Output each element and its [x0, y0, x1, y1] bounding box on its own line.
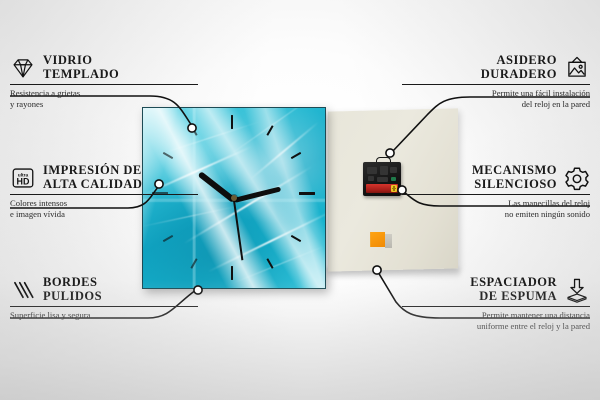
battery [366, 184, 398, 193]
foam-spacer [370, 232, 385, 247]
feature-header: ASIDERO DURADERO [402, 54, 590, 81]
feature-header: VIDRIO TEMPLADO [10, 54, 198, 81]
picture-frame-icon [564, 55, 590, 81]
feature-vidrio-templado[interactable]: VIDRIO TEMPLADO Resistencia a grietas y … [10, 54, 198, 110]
feature-subtitle: Colores intensos e imagen vívida [10, 198, 198, 220]
feature-title: MECANISMO SILENCIOSO [472, 164, 557, 191]
feature-title: ASIDERO DURADERO [481, 54, 557, 81]
foam-spacer-icon [564, 277, 590, 303]
feature-bordes-pulidos[interactable]: BORDES PULIDOS Superficie lisa y segura [10, 276, 198, 321]
diamond-icon [10, 55, 36, 81]
feature-espaciador-de-espuma[interactable]: ESPACIADOR DE ESPUMA Permite mantener un… [402, 276, 590, 332]
feature-divider [10, 194, 198, 195]
battery-plus-terminal [391, 185, 397, 192]
ultra-hd-icon-large-text: HD [17, 176, 30, 186]
feature-title: IMPRESIÓN DE ALTA CALIDAD [43, 164, 142, 191]
feature-subtitle: Permite mantener una distancia uniforme … [402, 310, 590, 332]
feature-divider [10, 306, 198, 307]
feature-divider [402, 84, 590, 85]
foam-spacer-shadow [385, 234, 392, 248]
gear-icon [564, 165, 590, 191]
feature-divider [402, 306, 590, 307]
feature-divider [402, 194, 590, 195]
feature-header: BORDES PULIDOS [10, 276, 198, 303]
feature-title: VIDRIO TEMPLADO [43, 54, 119, 81]
feature-subtitle: Superficie lisa y segura [10, 310, 198, 321]
feature-impresion-alta-calidad[interactable]: ultra HD IMPRESIÓN DE ALTA CALIDAD Color… [10, 164, 198, 220]
feature-mecanismo-silencioso[interactable]: MECANISMO SILENCIOSO Las manecillas del … [402, 164, 590, 220]
ultra-hd-icon: ultra HD [10, 165, 36, 191]
feature-subtitle: Las manecillas del reloj no emiten ningú… [402, 198, 590, 220]
feature-header: ESPACIADOR DE ESPUMA [402, 276, 590, 303]
quartz-movement [363, 162, 401, 196]
feature-subtitle: Resistencia a grietas y rayones [10, 88, 198, 110]
clock-tick [231, 266, 233, 280]
feature-subtitle: Permite una fácil instalación del reloj … [402, 88, 590, 110]
hand-center-cap [231, 195, 237, 201]
feature-header: MECANISMO SILENCIOSO [402, 164, 590, 191]
movement-body [363, 162, 401, 196]
clock-tick [299, 192, 315, 195]
clock-tick [231, 115, 233, 129]
feature-divider [10, 84, 198, 85]
feature-title: BORDES PULIDOS [43, 276, 102, 303]
feature-header: ultra HD IMPRESIÓN DE ALTA CALIDAD [10, 164, 198, 191]
feature-asidero-duradero[interactable]: ASIDERO DURADERO Permite una fácil insta… [402, 54, 590, 110]
feature-title: ESPACIADOR DE ESPUMA [470, 276, 557, 303]
polished-edges-icon [10, 277, 36, 303]
infographic-canvas: VIDRIO TEMPLADO Resistencia a grietas y … [0, 0, 600, 400]
